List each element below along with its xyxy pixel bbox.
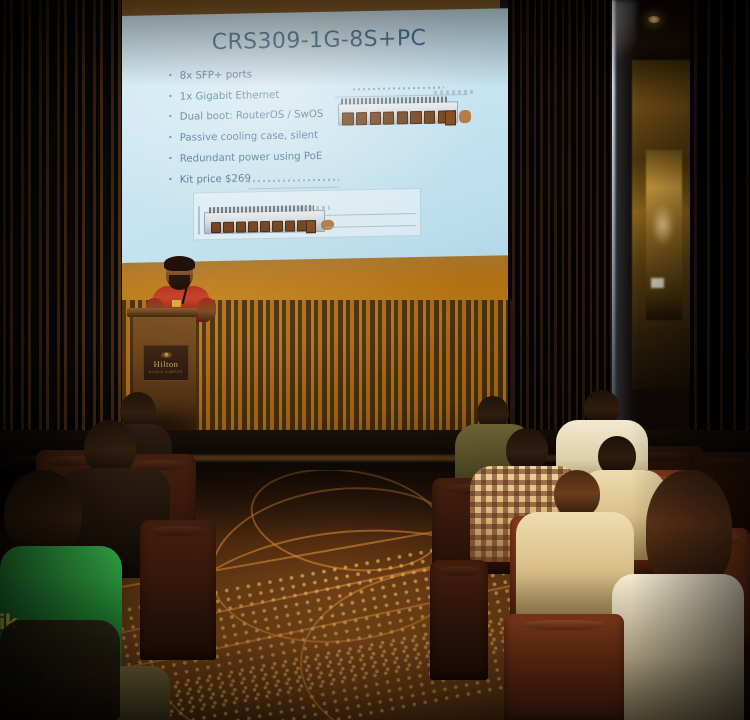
dc-jack <box>459 110 471 123</box>
sfp-port <box>272 220 282 232</box>
ceiling-spotlight-icon <box>648 16 660 23</box>
slide-title: CRS309-1G-8S+PC <box>184 25 454 55</box>
ethernet-port <box>306 220 316 234</box>
head <box>554 470 600 518</box>
speaker-arm-right <box>198 298 216 320</box>
doorway-distant-lamp <box>651 278 664 288</box>
switch-label-text <box>434 90 472 95</box>
slide-bullet-text: Redundant power using PoE <box>180 151 323 165</box>
sfp-port-row <box>211 220 307 233</box>
sfp-port <box>236 221 246 233</box>
slide-bullet-text: Dual boot: RouterOS / SwOS <box>180 109 324 123</box>
bullet-marker-icon: • <box>168 92 173 103</box>
sfp-port <box>397 111 408 124</box>
switch-label-text <box>298 206 330 210</box>
slide-bullet-1: • 8x SFP+ ports <box>168 67 383 83</box>
switch-dimension-drawing <box>193 188 421 241</box>
doorway-light <box>652 205 674 245</box>
sfp-port <box>424 111 435 124</box>
slide-surface: CRS309-1G-8S+PC • 8x SFP+ ports • 1x Gig… <box>120 8 510 263</box>
sfp-port <box>356 112 367 125</box>
curtain-left <box>0 0 122 470</box>
sfp-port <box>342 113 353 126</box>
dimension-line <box>198 207 200 235</box>
presentation-photo-scene: CRS309-1G-8S+PC • 8x SFP+ ports • 1x Gig… <box>0 0 750 720</box>
chair <box>504 614 624 720</box>
chair <box>140 520 216 660</box>
bullet-marker-icon: • <box>168 112 173 123</box>
slide-bullet-5: • Redundant power using PoE <box>168 150 383 166</box>
sfp-port <box>370 112 381 125</box>
sfp-port <box>410 111 421 124</box>
sfp-port <box>223 221 233 233</box>
speaker-hair <box>164 256 195 271</box>
sfp-port <box>248 221 258 233</box>
torso <box>0 620 120 720</box>
bullet-marker-icon: • <box>168 133 173 144</box>
slide-bullet-text: Passive cooling case, silent <box>180 130 318 144</box>
speaker-shirt-logo <box>172 300 181 307</box>
attendee-front-left-foreground <box>0 620 120 720</box>
slide-bullet-4: • Passive cooling case, silent <box>168 129 383 145</box>
podium-top-surface <box>127 308 198 317</box>
bullet-marker-icon: • <box>168 175 173 186</box>
sfp-port-row <box>342 111 449 126</box>
bullet-marker-icon: • <box>168 154 173 165</box>
sfp-port <box>211 222 221 234</box>
sfp-port <box>260 221 270 233</box>
switch-front-photo <box>329 83 477 130</box>
slide-bullet-text: Kit price $269 <box>180 173 251 186</box>
projection-screen: CRS309-1G-8S+PC • 8x SFP+ ports • 1x Gig… <box>120 8 510 263</box>
chair <box>430 560 488 680</box>
head-with-long-hair <box>646 470 732 588</box>
sfp-port <box>285 220 295 232</box>
head <box>4 470 82 558</box>
hilton-logo-icon <box>161 352 172 358</box>
slide-bullet-6: • Kit price $269 <box>168 170 383 186</box>
sfp-port <box>383 112 394 125</box>
slide-bullet-text: 1x Gigabit Ethernet <box>180 90 280 103</box>
photo-caption-line <box>353 86 445 90</box>
attendee-long-hair <box>612 470 750 720</box>
curtain-right <box>690 0 750 470</box>
torso <box>612 574 744 720</box>
bullet-marker-icon: • <box>168 71 173 82</box>
podium-brand-plaque: Hilton KUALA LUMPUR <box>143 345 189 381</box>
ethernet-port <box>445 111 456 126</box>
podium-brand-word: Hilton <box>154 359 179 369</box>
slide-bullet-text: 8x SFP+ ports <box>180 69 252 82</box>
podium-brand-sub: KUALA LUMPUR <box>149 370 182 374</box>
